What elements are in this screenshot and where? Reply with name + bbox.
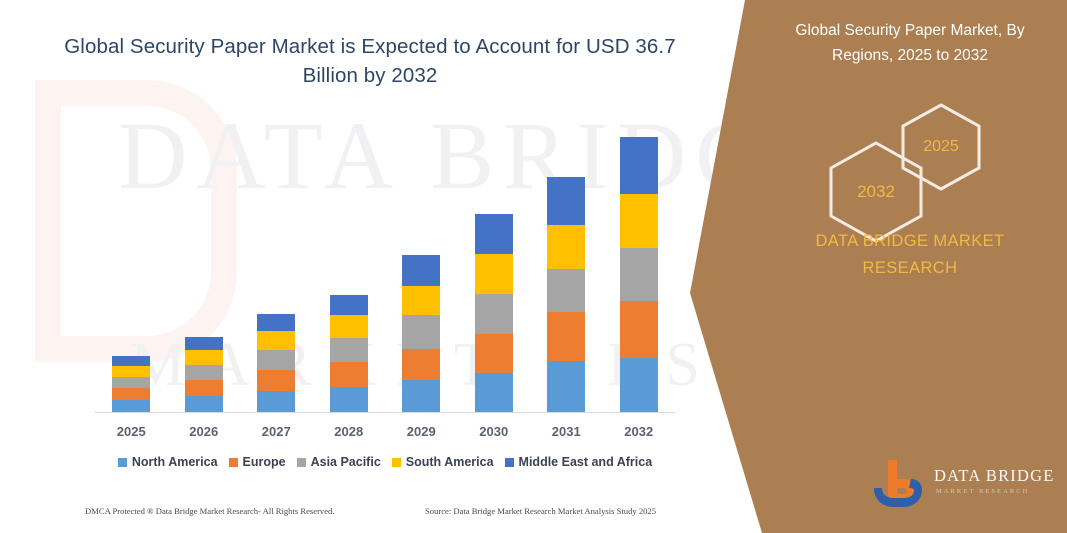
brand-panel: Global Security Paper Market, By Regions…	[690, 0, 1067, 533]
x-axis-label-2026: 2026	[168, 424, 240, 439]
bar-column-2029	[385, 255, 457, 413]
legend-label: Asia Pacific	[311, 455, 381, 469]
bar-segment-north-america	[257, 391, 295, 413]
bar-segment-europe	[547, 312, 585, 361]
company-logo: DATA BRIDGE MARKET RESEARCH	[870, 458, 1060, 513]
brand-name: DATA BRIDGE MARKET RESEARCH	[775, 228, 1045, 282]
logo-subtext: MARKET RESEARCH	[936, 488, 1029, 495]
bar-column-2028	[313, 295, 385, 413]
hexagon-badge-2025-label: 2025	[923, 138, 959, 156]
footer-copyright: DMCA Protected ® Data Bridge Market Rese…	[85, 506, 335, 516]
x-axis-label-2029: 2029	[385, 424, 457, 439]
bar-segment-middle-east-and-africa	[330, 295, 368, 315]
legend-item-north-america[interactable]: North America	[118, 455, 218, 469]
stacked-bar	[185, 337, 223, 413]
x-axis-label-2025: 2025	[95, 424, 167, 439]
bar-segment-south-america	[475, 254, 513, 294]
bar-column-2025	[95, 356, 167, 413]
bar-column-2030	[458, 214, 530, 413]
stacked-bar	[547, 177, 585, 413]
stacked-bar	[257, 314, 295, 413]
footer-source: Source: Data Bridge Market Research Mark…	[425, 506, 656, 516]
bar-segment-north-america	[330, 387, 368, 413]
stacked-bar	[112, 356, 150, 413]
stacked-bar	[620, 137, 658, 413]
x-axis-label-2028: 2028	[313, 424, 385, 439]
bar-column-2031	[530, 177, 602, 413]
bar-segment-asia-pacific	[402, 315, 440, 349]
stacked-bar	[330, 295, 368, 413]
bar-segment-europe	[620, 301, 658, 358]
legend-item-south-america[interactable]: South America	[392, 455, 494, 469]
bar-segment-north-america	[185, 396, 223, 413]
bar-segment-europe	[112, 388, 150, 400]
legend-label: Middle East and Africa	[519, 455, 653, 469]
legend-swatch-icon	[392, 458, 401, 467]
x-axis-labels: 20252026202720282029203020312032	[95, 424, 675, 446]
x-axis-label-2030: 2030	[458, 424, 530, 439]
chart-baseline	[95, 412, 675, 413]
bar-segment-asia-pacific	[620, 248, 658, 301]
hexagon-badge-2025: 2025	[898, 102, 984, 192]
bar-segment-asia-pacific	[547, 269, 585, 312]
bar-segment-south-america	[112, 366, 150, 377]
infographic-canvas: DATA BRIDGE MARKET RESEARCH Global Secur…	[0, 0, 1067, 533]
bar-segment-asia-pacific	[475, 294, 513, 334]
bar-segment-europe	[257, 370, 295, 391]
bar-segment-north-america	[547, 361, 585, 413]
bar-column-2032	[603, 137, 675, 413]
legend-swatch-icon	[505, 458, 514, 467]
data-bridge-logo-icon	[870, 458, 932, 510]
bar-segment-middle-east-and-africa	[112, 356, 150, 366]
bar-segment-south-america	[620, 194, 658, 248]
bar-segment-europe	[185, 380, 223, 396]
bar-column-2026	[168, 337, 240, 413]
bar-segment-south-america	[330, 315, 368, 338]
bar-segment-south-america	[402, 286, 440, 315]
stacked-bar	[475, 214, 513, 413]
bar-segment-north-america	[620, 358, 658, 413]
footer: DMCA Protected ® Data Bridge Market Rese…	[85, 506, 675, 522]
bar-segment-south-america	[185, 350, 223, 365]
legend-label: North America	[132, 455, 218, 469]
x-axis-label-2032: 2032	[603, 424, 675, 439]
bar-segment-middle-east-and-africa	[402, 255, 440, 286]
legend-swatch-icon	[229, 458, 238, 467]
chart-panel: DATA BRIDGE MARKET RESEARCH Global Secur…	[0, 0, 760, 533]
legend-item-asia-pacific[interactable]: Asia Pacific	[297, 455, 381, 469]
legend-label: South America	[406, 455, 494, 469]
legend-label: Europe	[243, 455, 286, 469]
stacked-bar-chart	[95, 120, 675, 413]
stacked-bar	[402, 255, 440, 413]
legend-swatch-icon	[297, 458, 306, 467]
bar-segment-middle-east-and-africa	[620, 137, 658, 194]
logo-wordmark: DATA BRIDGE	[934, 466, 1055, 486]
x-axis-label-2027: 2027	[240, 424, 312, 439]
legend-swatch-icon	[118, 458, 127, 467]
hexagon-badge-2032-label: 2032	[857, 182, 895, 202]
bar-segment-europe	[475, 334, 513, 373]
bar-segment-north-america	[475, 373, 513, 413]
legend-item-europe[interactable]: Europe	[229, 455, 286, 469]
bar-segment-south-america	[547, 225, 585, 269]
bar-column-2027	[240, 314, 312, 413]
bar-segment-asia-pacific	[257, 350, 295, 370]
bar-segment-asia-pacific	[330, 338, 368, 362]
bar-segment-middle-east-and-africa	[257, 314, 295, 331]
chart-legend: North AmericaEuropeAsia PacificSouth Ame…	[95, 455, 675, 469]
bar-segment-middle-east-and-africa	[185, 337, 223, 350]
bar-segment-europe	[402, 349, 440, 380]
bar-segment-asia-pacific	[185, 365, 223, 380]
page-title: Global Security Paper Market is Expected…	[60, 32, 680, 90]
bar-segment-middle-east-and-africa	[475, 214, 513, 254]
legend-item-middle-east-and-africa[interactable]: Middle East and Africa	[505, 455, 653, 469]
x-axis-label-2031: 2031	[530, 424, 602, 439]
bar-segment-south-america	[257, 331, 295, 350]
bar-segment-europe	[330, 362, 368, 387]
bar-segment-north-america	[402, 380, 440, 413]
brand-panel-title: Global Security Paper Market, By Regions…	[765, 18, 1055, 68]
bar-segment-asia-pacific	[112, 377, 150, 388]
bar-segment-middle-east-and-africa	[547, 177, 585, 225]
